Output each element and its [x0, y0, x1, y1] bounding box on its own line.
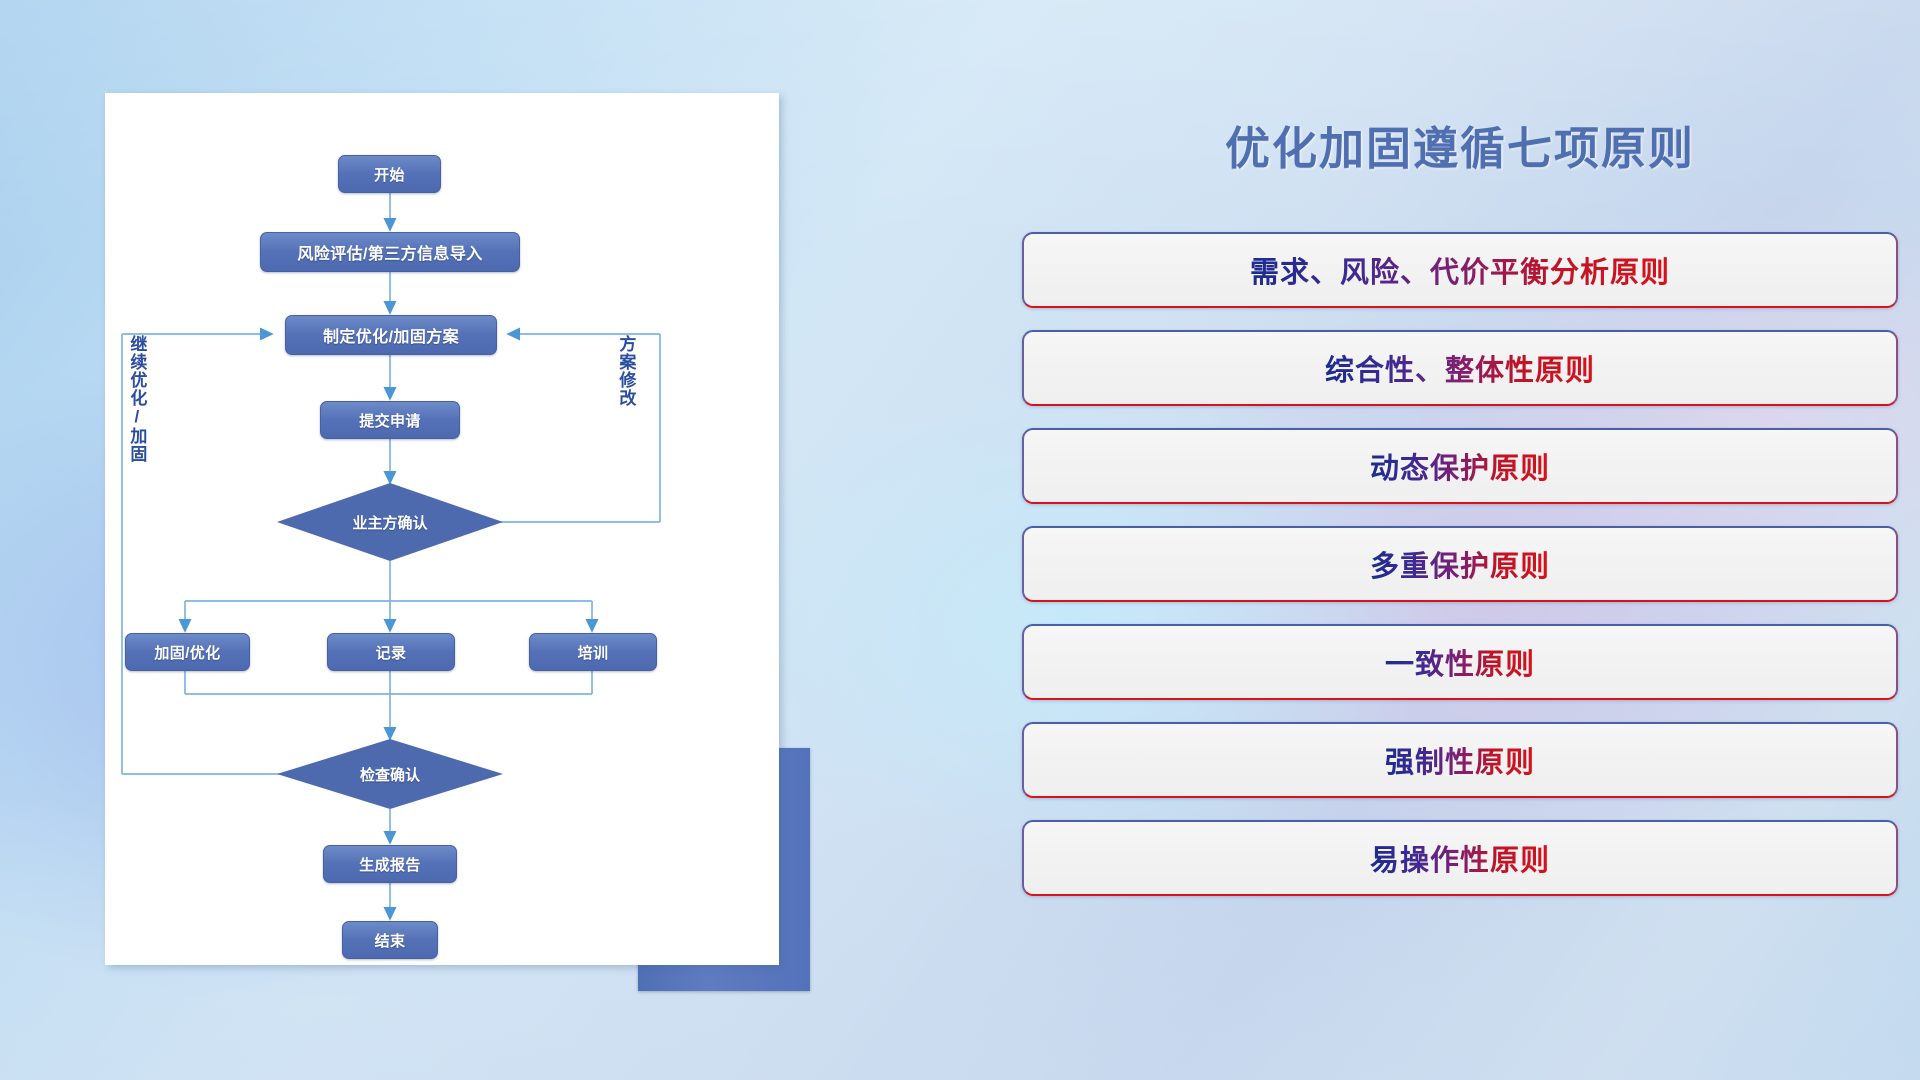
flow-node-submit[interactable]: 提交申请: [320, 401, 460, 439]
flow-edge-label-plan-revision: 方案修改: [617, 335, 634, 407]
flow-node-record[interactable]: 记录: [327, 633, 455, 671]
flow-edge-label-continue-optimize: 继续优化/加固: [128, 335, 145, 463]
principles-panel: 优化加固遵循七项原则 需求、风险、代价平衡分析原则 综合性、整体性原则 动态保护…: [1000, 0, 1920, 1080]
principle-card-4-label: 多重保护原则: [1370, 543, 1550, 585]
principle-card-3[interactable]: 动态保护原则: [1022, 428, 1898, 504]
flow-node-start[interactable]: 开始: [338, 155, 441, 193]
flowchart-panel: 开始 风险评估/第三方信息导入 制定优化/加固方案 提交申请 业主方确认 加固/…: [0, 0, 860, 1080]
principle-card-7[interactable]: 易操作性原则: [1022, 820, 1898, 896]
principle-card-5[interactable]: 一致性原则: [1022, 624, 1898, 700]
principle-card-3-label: 动态保护原则: [1370, 445, 1550, 487]
principles-card-list: 需求、风险、代价平衡分析原则 综合性、整体性原则 动态保护原则 多重保护原则 一…: [1022, 232, 1898, 918]
principle-card-4[interactable]: 多重保护原则: [1022, 526, 1898, 602]
flowchart-card: 开始 风险评估/第三方信息导入 制定优化/加固方案 提交申请 业主方确认 加固/…: [105, 93, 779, 965]
principle-card-7-label: 易操作性原则: [1370, 837, 1550, 879]
flow-node-check-confirm[interactable]: 检查确认: [277, 739, 503, 809]
principle-card-1-label: 需求、风险、代价平衡分析原则: [1250, 249, 1670, 291]
principle-card-2-label: 综合性、整体性原则: [1325, 347, 1595, 389]
principle-card-6-label: 强制性原则: [1385, 739, 1535, 781]
principle-card-6[interactable]: 强制性原则: [1022, 722, 1898, 798]
principles-title: 优化加固遵循七项原则: [1000, 112, 1920, 177]
principle-card-2[interactable]: 综合性、整体性原则: [1022, 330, 1898, 406]
flow-node-plan[interactable]: 制定优化/加固方案: [285, 315, 497, 355]
flow-node-training[interactable]: 培训: [529, 633, 657, 671]
flow-node-end[interactable]: 结束: [342, 921, 438, 959]
principle-card-1[interactable]: 需求、风险、代价平衡分析原则: [1022, 232, 1898, 308]
flow-node-generate-report[interactable]: 生成报告: [323, 845, 457, 883]
principle-card-5-label: 一致性原则: [1385, 641, 1535, 683]
flow-node-risk-assessment[interactable]: 风险评估/第三方信息导入: [260, 232, 520, 272]
flow-node-reinforce[interactable]: 加固/优化: [125, 633, 250, 671]
flow-node-owner-confirm[interactable]: 业主方确认: [277, 483, 503, 561]
